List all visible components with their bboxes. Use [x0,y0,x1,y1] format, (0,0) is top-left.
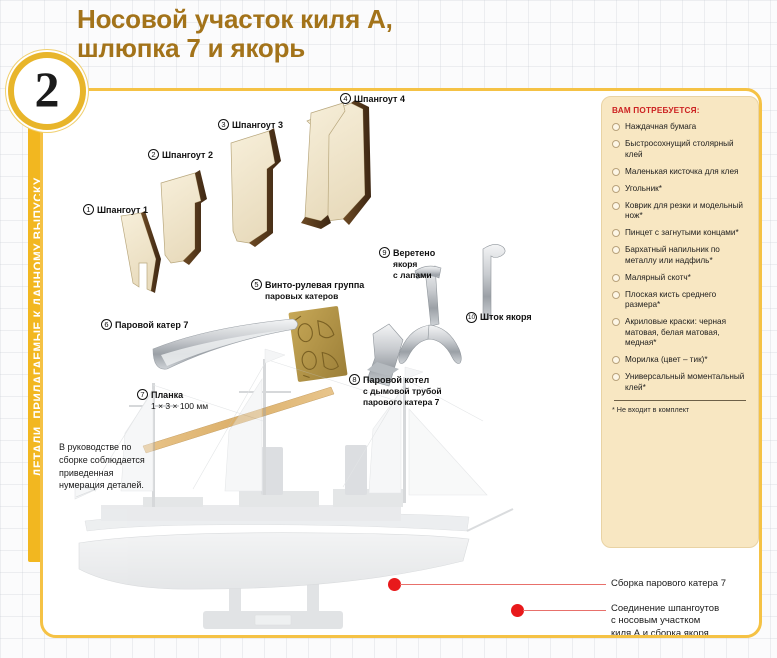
content-card: 1Шпангоут 1 2Шпангоут 2 3Шпангоут 3 4Шпа… [40,88,762,638]
checklist-footnote: * Не входит в комплект [612,405,748,414]
checklist-item[interactable]: Пинцет с загнутыми концами* [612,228,748,239]
checkbox-circle-icon[interactable] [612,168,620,176]
checkbox-circle-icon[interactable] [612,291,620,299]
part-number-2: 2 [148,149,159,160]
part-anchor-stock-10 [483,244,505,319]
part-number-4: 4 [340,93,351,104]
callout-text-2: Соединение шпангоутов с носовым участком… [611,603,719,638]
part-label-5: 5Винто-рулевая группа паровых катеров [251,279,364,302]
checkbox-circle-icon[interactable] [612,373,620,381]
part-label-2: 2Шпангоут 2 [148,149,213,161]
page-number-badge: 2 [8,52,86,130]
part-frame-4 [301,100,371,229]
checklist-item-label: Акриловые краски: черная матовая, белая … [625,317,748,349]
checkbox-circle-icon[interactable] [612,229,620,237]
part-frame-1 [121,211,161,293]
checklist-item-label: Маленькая кисточка для клея [625,167,738,178]
checklist-item[interactable]: Универсальный моментальный клей* [612,372,748,393]
checkbox-circle-icon[interactable] [612,356,620,364]
part-number-6: 6 [101,319,112,330]
checklist-item-label: Пинцет с загнутыми концами* [625,228,739,239]
part-label-10: 10Шток якоря [466,312,532,323]
page-title-line2: шлюпка 7 и якорь [77,34,597,63]
checklist-items: Наждачная бумагаБыстросохнущий столярный… [612,122,748,393]
part-label-8-text: Паровой котел [363,375,429,385]
part-label-6: 6Паровой катер 7 [101,319,188,331]
checkbox-circle-icon[interactable] [612,318,620,326]
part-label-8: 8Паровой котел с дымовой трубой парового… [349,374,442,408]
part-label-5-text: Винто-рулевая группа [265,280,364,290]
part-label-6-text: Паровой катер 7 [115,320,188,330]
page-title: Носовой участок киля А, шлюпка 7 и якорь [77,5,597,63]
part-label-2-text: Шпангоут 2 [162,150,213,160]
checklist-item-label: Бархатный напильник по металлу или надфи… [625,245,748,266]
callout-text-1: Сборка парового катера 7 [611,578,726,590]
checklist-item-label: Плоская кисть среднего размера* [625,290,748,311]
checklist-item[interactable]: Коврик для резки и модельный нож* [612,201,748,222]
checklist-item[interactable]: Бархатный напильник по металлу или надфи… [612,245,748,266]
checklist-item[interactable]: Быстросохнущий столярный клей [612,139,748,160]
checkbox-circle-icon[interactable] [612,123,620,131]
checkbox-circle-icon[interactable] [612,202,620,210]
part-label-10-text: Шток якоря [480,312,532,322]
checklist-item-label: Малярный скотч* [625,273,691,284]
page-root: Носовой участок киля А, шлюпка 7 и якорь… [0,0,777,658]
part-frame-3 [231,128,281,247]
checklist-item-label: Морилка (цвет – тик)* [625,355,708,366]
callout-leader-2 [523,610,606,611]
part-number-8: 8 [349,374,360,385]
checklist-item-label: Наждачная бумага [625,122,696,133]
checklist-item[interactable]: Плоская кисть среднего размера* [612,290,748,311]
page-number: 2 [35,64,60,114]
checklist-item[interactable]: Морилка (цвет – тик)* [612,355,748,366]
checkbox-circle-icon[interactable] [612,246,620,254]
checklist-title: ВАМ ПОТРЕБУЕТСЯ: [612,106,748,115]
callout-1-line1: Сборка парового катера 7 [611,578,726,589]
part-label-9: 9Веретено якоря с лапами [379,247,435,281]
part-number-10: 10 [466,312,477,323]
part-frame-2 [161,170,207,265]
checklist-item-label: Угольник* [625,184,662,195]
callout-2-line1: Соединение шпангоутов [611,603,719,615]
checklist-item[interactable]: Маленькая кисточка для клея [612,167,748,178]
checkbox-circle-icon[interactable] [612,274,620,282]
part-label-9-subtext-1: якоря [379,259,435,270]
part-label-9-subtext-2: с лапами [379,270,435,281]
part-label-4: 4Шпангоут 4 [340,93,405,105]
checkbox-circle-icon[interactable] [612,185,620,193]
part-label-1-text: Шпангоут 1 [97,205,148,215]
part-number-5: 5 [251,279,262,290]
part-label-8-subtext-1: с дымовой трубой [349,386,442,397]
part-label-3-text: Шпангоут 3 [232,120,283,130]
part-label-7-text: Планка [151,390,183,400]
checkbox-circle-icon[interactable] [612,140,620,148]
numbering-note: В руководстве по сборке соблюдается прив… [59,441,151,492]
part-label-4-text: Шпангоут 4 [354,94,405,104]
part-label-7-dimensions: 1 × 3 × 100 мм [137,401,208,412]
checklist-item-label: Универсальный моментальный клей* [625,372,748,393]
callout-2-line3: киля А и сборка якоря [611,628,719,638]
part-label-9-text: Веретено [393,248,435,258]
materials-checklist: ВАМ ПОТРЕБУЕТСЯ: Наждачная бумагаБыстрос… [601,96,759,548]
part-number-1: 1 [83,204,94,215]
page-title-line1: Носовой участок киля А, [77,4,393,34]
checklist-divider [614,400,746,401]
part-label-3: 3Шпангоут 3 [218,119,283,131]
part-number-9: 9 [379,247,390,258]
callout-2-line2: с носовым участком [611,615,719,627]
checklist-item[interactable]: Малярный скотч* [612,273,748,284]
part-brass-fret-5 [288,306,347,382]
checklist-item-label: Быстросохнущий столярный клей [625,139,748,160]
part-anchor-shank-9 [399,266,462,363]
checklist-item[interactable]: Наждачная бумага [612,122,748,133]
callout-leader-1 [400,584,606,585]
part-number-3: 3 [218,119,229,130]
part-label-8-subtext-2: парового катера 7 [349,397,442,408]
checklist-item[interactable]: Угольник* [612,184,748,195]
part-label-5-subtext: паровых катеров [251,291,364,302]
part-number-7: 7 [137,389,148,400]
checklist-item[interactable]: Акриловые краски: черная матовая, белая … [612,317,748,349]
part-label-7: 7Планка 1 × 3 × 100 мм [137,389,208,412]
part-label-1: 1Шпангоут 1 [83,204,148,216]
checklist-item-label: Коврик для резки и модельный нож* [625,201,748,222]
